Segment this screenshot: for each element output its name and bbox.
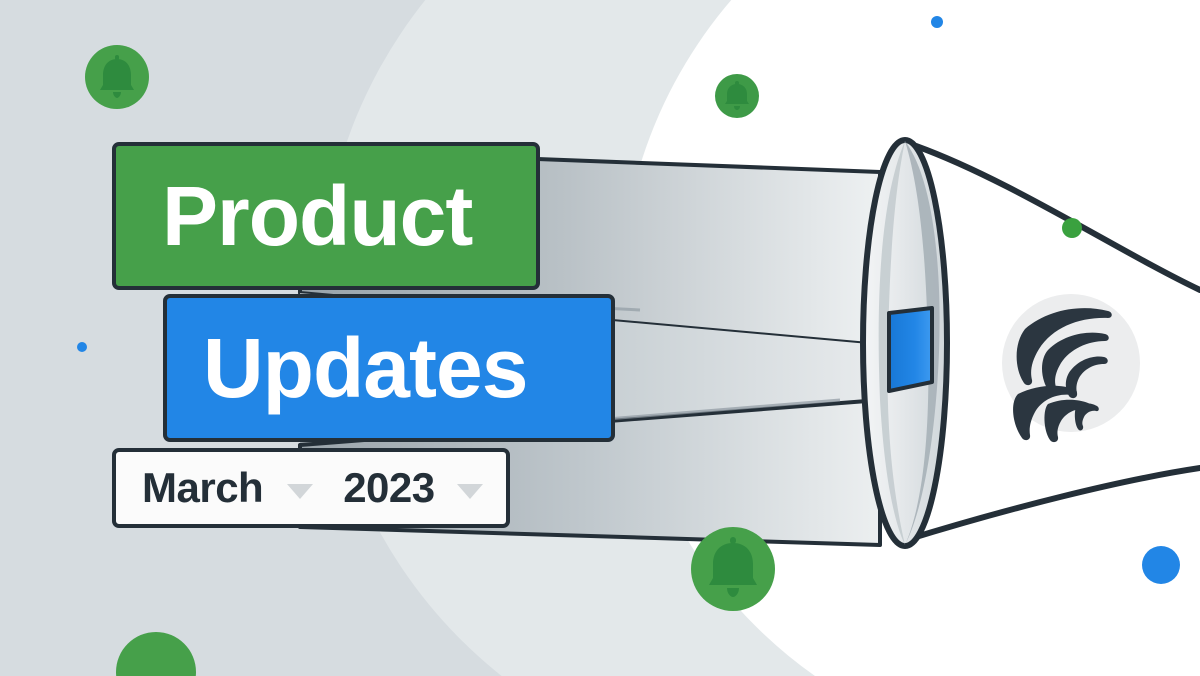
product-title-card: Product xyxy=(112,142,540,290)
chevron-down-icon-year[interactable] xyxy=(457,484,483,499)
chevron-down-icon-month[interactable] xyxy=(287,484,313,499)
company-logo-badge xyxy=(1002,294,1140,442)
megaphone-mouth xyxy=(863,140,947,546)
shell-line-bottom xyxy=(906,468,1200,540)
bell-icon-top-center xyxy=(715,74,759,118)
page-title-line2: Updates xyxy=(203,326,527,410)
updates-title-card: Updates xyxy=(163,294,615,442)
bell-icon-bottom xyxy=(691,527,775,611)
dot-blue-large-right xyxy=(1142,546,1180,584)
megaphone-blue-band xyxy=(889,308,932,391)
page-title-line1: Product xyxy=(162,174,472,258)
dot-green-handle xyxy=(1062,218,1082,238)
bell-icon-top-left xyxy=(85,45,149,109)
dot-blue-small-top xyxy=(931,16,943,28)
dot-blue-small-left xyxy=(77,342,87,352)
month-value[interactable]: March xyxy=(142,467,263,509)
date-selector-card[interactable]: March 2023 xyxy=(112,448,510,528)
shell-line-top xyxy=(916,146,1200,290)
year-value[interactable]: 2023 xyxy=(343,467,434,509)
hero-banner: Product Updates March 2023 xyxy=(0,0,1200,676)
circle-green-bottom-left xyxy=(116,632,196,676)
